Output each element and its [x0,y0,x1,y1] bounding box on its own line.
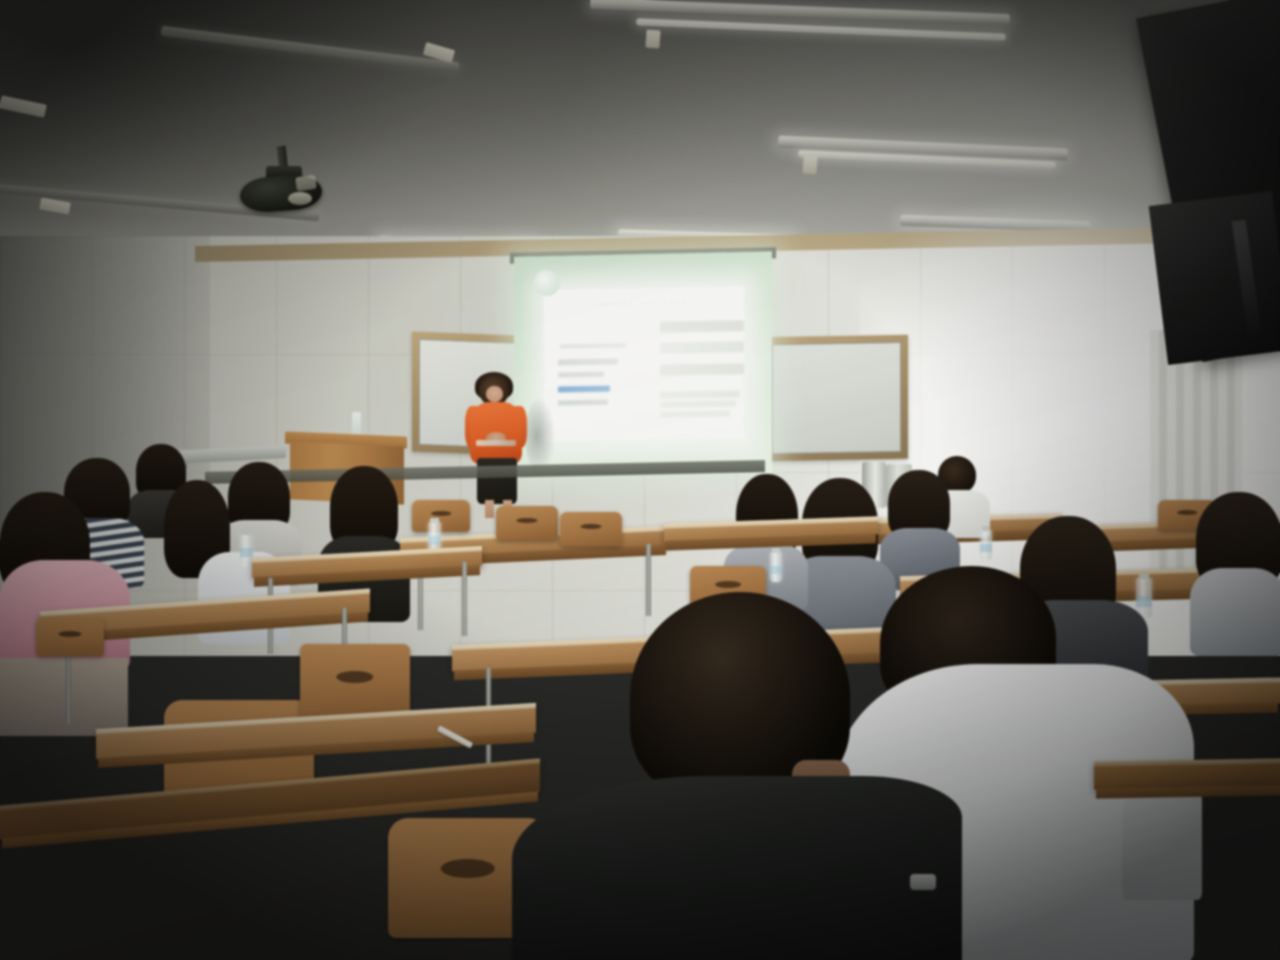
presenter-belt [476,440,516,446]
classroom-photo: ······ ··· ···· [0,0,1280,960]
desk-leg-mid-1b [646,544,651,616]
audience-person-foreground-white-arm [1122,780,1202,900]
projector-lens-icon [288,192,312,205]
light-clip-5 [802,156,817,175]
audience-person-pink-lap [0,658,128,736]
projector-side-panel [295,175,317,192]
chair-mid-2 [496,506,558,540]
light-clip-4 [645,30,660,49]
audience-person-foreground-dark-watch [910,874,936,890]
bottle-mid-3 [980,530,992,560]
chair-left-3 [36,618,104,656]
chair-mid-3 [560,512,622,546]
presenter-left-leg [485,500,494,518]
presenter-face [486,386,503,402]
chair-left-2 [300,644,410,722]
presenter-shadow [525,398,555,474]
desk-leg-left-1b [462,562,467,636]
desk-row-foreground-2 [1094,758,1280,789]
whiteboard-right [765,335,908,461]
chair-mid-1 [412,500,470,532]
ceiling-monitor-lower [1149,191,1280,365]
bottle-mid-4 [770,552,782,582]
